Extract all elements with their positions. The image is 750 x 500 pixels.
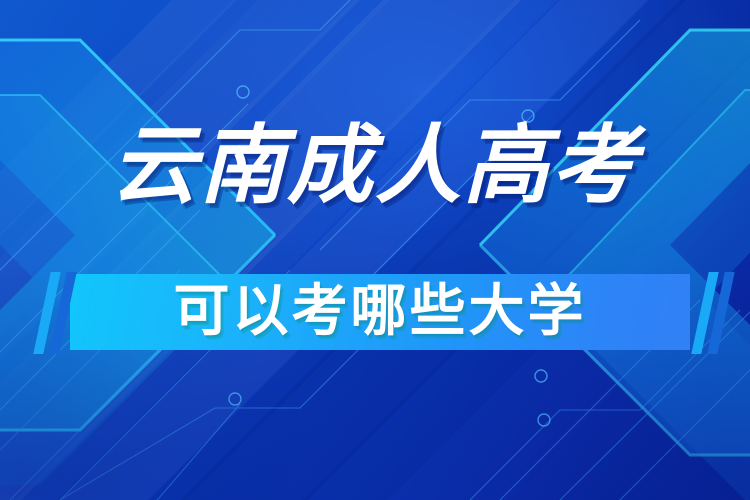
chevron-decor-layer: [0, 0, 750, 500]
left-chevron-arrow: [0, 40, 275, 485]
node-low-left: [229, 393, 241, 405]
subtitle-text: 可以考哪些大学: [70, 274, 690, 350]
node-top-left: [237, 86, 249, 98]
poster-canvas: 云南成人高考 可以考哪些大学: [0, 0, 750, 500]
node-low-right: [538, 414, 550, 426]
node-far-right: [535, 370, 547, 382]
page-title: 云南成人高考: [0, 123, 750, 209]
